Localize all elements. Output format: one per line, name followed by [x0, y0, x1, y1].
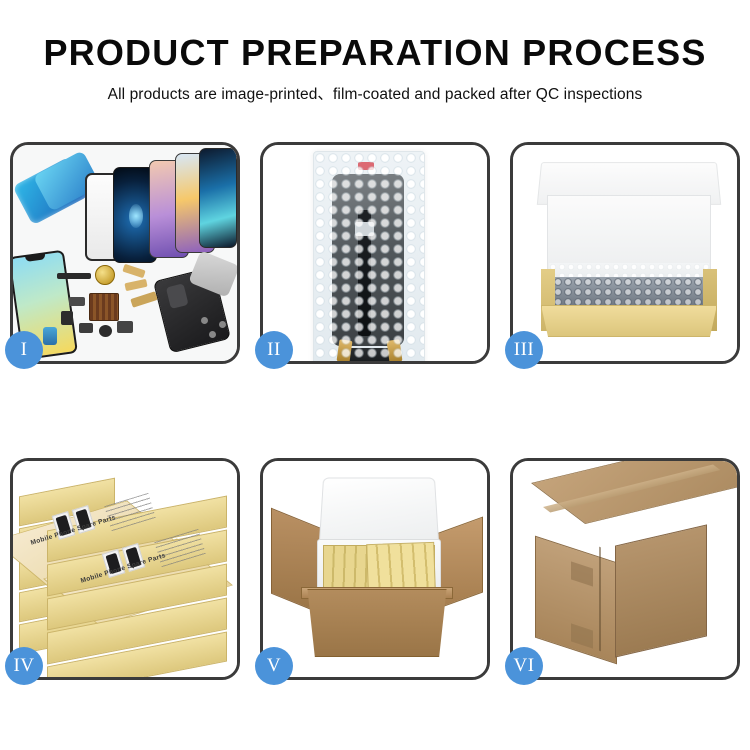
carton-left-face-icon [535, 536, 617, 665]
packed-kraft-boxes-2-icon [366, 542, 436, 592]
step-badge-3: III [505, 331, 543, 369]
step-panel-1: I [10, 142, 240, 364]
step-panel-5: V [260, 458, 490, 680]
flex-cable-icon [57, 273, 91, 279]
step-panel-4: Mobile Phone Spare Parts Mobile Phone Sp… [10, 458, 240, 680]
phone-screen-teal-icon [199, 148, 237, 248]
step-panel-3: III [510, 142, 740, 364]
lcd-connector-icon [355, 222, 374, 236]
header: PRODUCT PREPARATION PROCESS All products… [0, 32, 750, 104]
product-preparation-infographic: PRODUCT PREPARATION PROCESS All products… [0, 0, 750, 750]
panel-2-image [263, 145, 487, 361]
small-part-icon [79, 323, 93, 333]
lcd-gold-contact-left-icon [337, 339, 353, 361]
panel-1-image [13, 145, 237, 361]
screw-icon [201, 317, 208, 324]
panel-4-image: Mobile Phone Spare Parts Mobile Phone Sp… [13, 461, 237, 677]
carton-body-icon [303, 589, 451, 657]
steps-grid: I II [10, 142, 740, 672]
step-badge-6: VI [505, 647, 543, 685]
vibration-motor-icon [95, 265, 115, 285]
tray-front-panel-icon [541, 305, 717, 337]
camera-module-icon [99, 325, 112, 337]
step-badge-5: V [255, 647, 293, 685]
connector-grid-icon [89, 293, 119, 321]
panel-3-image [513, 145, 737, 361]
carton-right-face-icon [615, 524, 707, 657]
panel-5-image [263, 461, 487, 677]
screw-icon [209, 331, 216, 338]
step-panel-2: II [260, 142, 490, 364]
foam-cooler-lid-icon [319, 478, 439, 545]
small-part-icon [117, 321, 133, 333]
step-badge-4: IV [5, 647, 43, 685]
screw-icon [219, 321, 226, 328]
page-title: PRODUCT PREPARATION PROCESS [0, 32, 750, 73]
step-badge-1: I [5, 331, 43, 369]
gold-flex-cable-2-icon [124, 279, 147, 291]
small-part-icon [61, 311, 73, 325]
bubble-wrap-bag-icon [313, 151, 425, 361]
ribbon-cable-icon [130, 291, 158, 308]
lcd-red-tab-icon [358, 162, 374, 170]
carton-seam-icon [599, 547, 601, 652]
panel-6-image [513, 461, 737, 677]
gold-flex-cable-icon [122, 264, 145, 278]
page-subtitle: All products are image-printed、film-coat… [0, 82, 750, 104]
small-part-icon [69, 297, 85, 306]
kraft-box-stack: Mobile Phone Spare Parts Mobile Phone Sp… [15, 465, 237, 677]
step-panel-6: VI [510, 458, 740, 680]
step-badge-2: II [255, 331, 293, 369]
battery-icon [43, 327, 57, 345]
